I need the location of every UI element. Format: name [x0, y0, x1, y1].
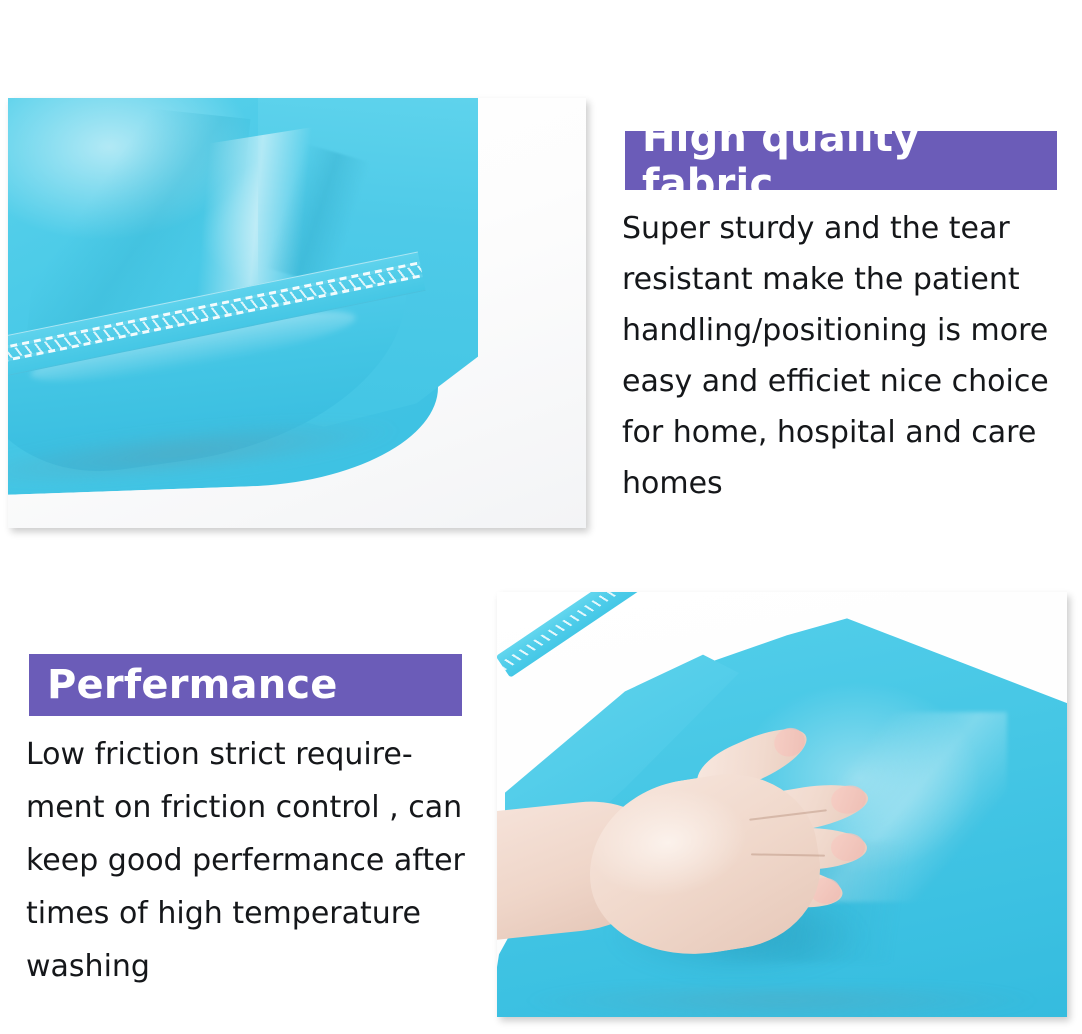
feature-body-line: resistant make the patient — [622, 254, 1072, 305]
feature-body-line: ment on friction control , can — [26, 781, 476, 834]
hand-on-sheet-photo — [497, 592, 1067, 1017]
feature-body-line: keep good perfermance after — [26, 834, 476, 887]
drop-shadow — [527, 987, 1037, 1017]
product-feature-infographic: High quality fabric Super sturdy and the… — [0, 0, 1082, 1034]
feature-heading-label: High quality fabric — [642, 115, 1057, 207]
feature-body-line: for home, hospital and care — [622, 407, 1072, 458]
feature-body-line: times of high temperature — [26, 887, 476, 940]
feature-body-line: easy and efficiet nice choice — [622, 356, 1072, 407]
feature-body-fabric: Super sturdy and the tear resistant make… — [622, 203, 1072, 509]
fingertip — [830, 833, 865, 861]
feature-body-line: washing — [26, 940, 476, 993]
feature-heading-label: Perfermance — [47, 662, 338, 708]
feature-heading-fabric: High quality fabric — [625, 131, 1057, 190]
feature-body-line: Low friction strict require- — [26, 728, 476, 781]
folded-fabric-photo — [8, 98, 586, 528]
feature-heading-performance: Perfermance — [29, 654, 462, 716]
feature-body-line: homes — [622, 458, 1072, 509]
feature-body-line: handling/positioning is more — [622, 305, 1072, 356]
feature-body-line: Super sturdy and the tear — [622, 203, 1072, 254]
feature-body-performance: Low friction strict require- ment on fri… — [26, 728, 476, 993]
